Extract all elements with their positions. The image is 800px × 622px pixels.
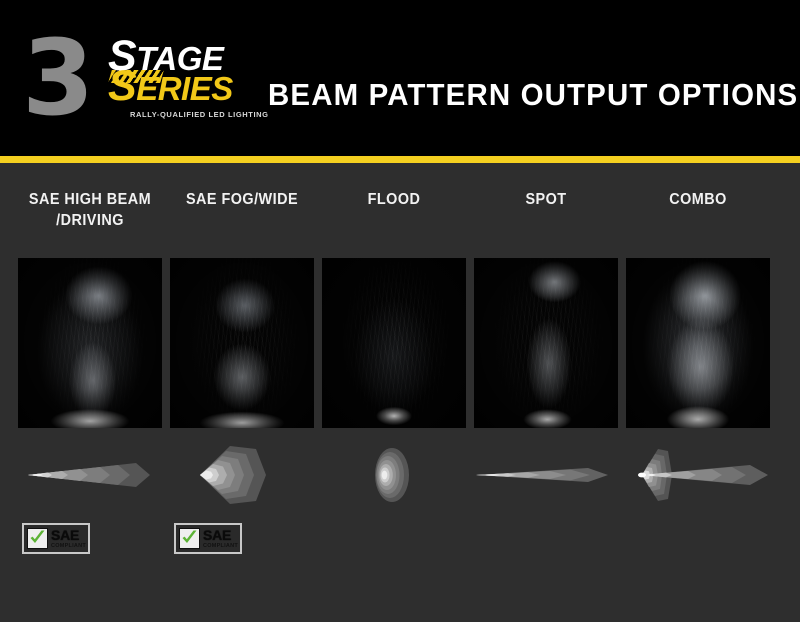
column-label: SAE HIGH BEAM /DRIVING [19, 189, 160, 231]
beam-photo-spot [474, 258, 618, 428]
beam-diagram-sae-high-beam-driving [14, 441, 166, 509]
column-label: COMBO [627, 189, 768, 210]
beam-diagram-spot [470, 441, 622, 509]
beam-photo-combo [626, 258, 770, 428]
logo-series-rest: ERIES [136, 70, 233, 107]
column-spot: SPOT SAE COMP [470, 163, 622, 622]
page-title: BEAM PATTERN OUTPUT OPTIONS [268, 78, 798, 112]
column-flood: FLOOD SAE [318, 163, 470, 622]
logo-tagline: RALLY-QUALIFIED LED LIGHTING [130, 110, 269, 119]
beam-photo-sae-high-beam-driving [18, 258, 162, 428]
badge-subtitle: COMPLIANT [51, 543, 86, 549]
accent-divider-bar [0, 156, 800, 163]
column-label: FLOOD [323, 189, 464, 210]
badge-title: SAE [51, 528, 79, 542]
column-label-line1: SAE HIGH BEAM [29, 191, 151, 208]
logo-series-capital: S [108, 62, 136, 110]
beam-diagram-flood [318, 441, 470, 509]
column-sae-high-beam-driving: SAE HIGH BEAM /DRIVING [14, 163, 166, 622]
green-check-icon [27, 528, 48, 549]
diode-dynamics-stage-series-logo: 3 STAGE SERIES RALLY-QUALIFIED LED LIGHT… [22, 24, 262, 132]
column-label-line2: /DRIVING [56, 212, 124, 229]
header-bar: 3 STAGE SERIES RALLY-QUALIFIED LED LIGHT… [0, 0, 800, 156]
photo-vignette [322, 258, 466, 428]
logo-word-series: SERIES [108, 70, 233, 105]
column-label: SAE FOG/WIDE [171, 189, 312, 210]
photo-vignette [474, 258, 618, 428]
badge-subtitle: COMPLIANT [203, 543, 238, 549]
logo-numeral-3: 3 [22, 26, 90, 130]
column-label: SPOT [475, 189, 616, 210]
sae-compliant-badge: SAE COMPLIANT [22, 523, 90, 554]
column-sae-fog-wide: SAE FOG/WIDE [166, 163, 318, 622]
photo-vignette [626, 258, 770, 428]
beam-photo-sae-fog-wide [170, 258, 314, 428]
column-label-line1: SAE FOG/WIDE [186, 191, 298, 208]
beam-diagram-sae-fog-wide [166, 441, 318, 509]
beam-diagram-combo [622, 441, 774, 509]
column-combo: COMBO [622, 163, 774, 622]
green-check-icon [179, 528, 200, 549]
column-label-line1: FLOOD [368, 191, 421, 208]
photo-vignette [170, 258, 314, 428]
beam-pattern-columns: SAE HIGH BEAM /DRIVING [0, 163, 800, 622]
beam-pattern-infographic: 3 STAGE SERIES RALLY-QUALIFIED LED LIGHT… [0, 0, 800, 622]
badge-title: SAE [203, 528, 231, 542]
column-label-line1: COMBO [669, 191, 727, 208]
logo-wordmark: STAGE SERIES RALLY-QUALIFIED LED LIGHTIN… [108, 40, 268, 132]
column-label-line1: SPOT [525, 191, 566, 208]
sae-compliant-badge: SAE COMPLIANT [174, 523, 242, 554]
photo-vignette [18, 258, 162, 428]
beam-photo-flood [322, 258, 466, 428]
